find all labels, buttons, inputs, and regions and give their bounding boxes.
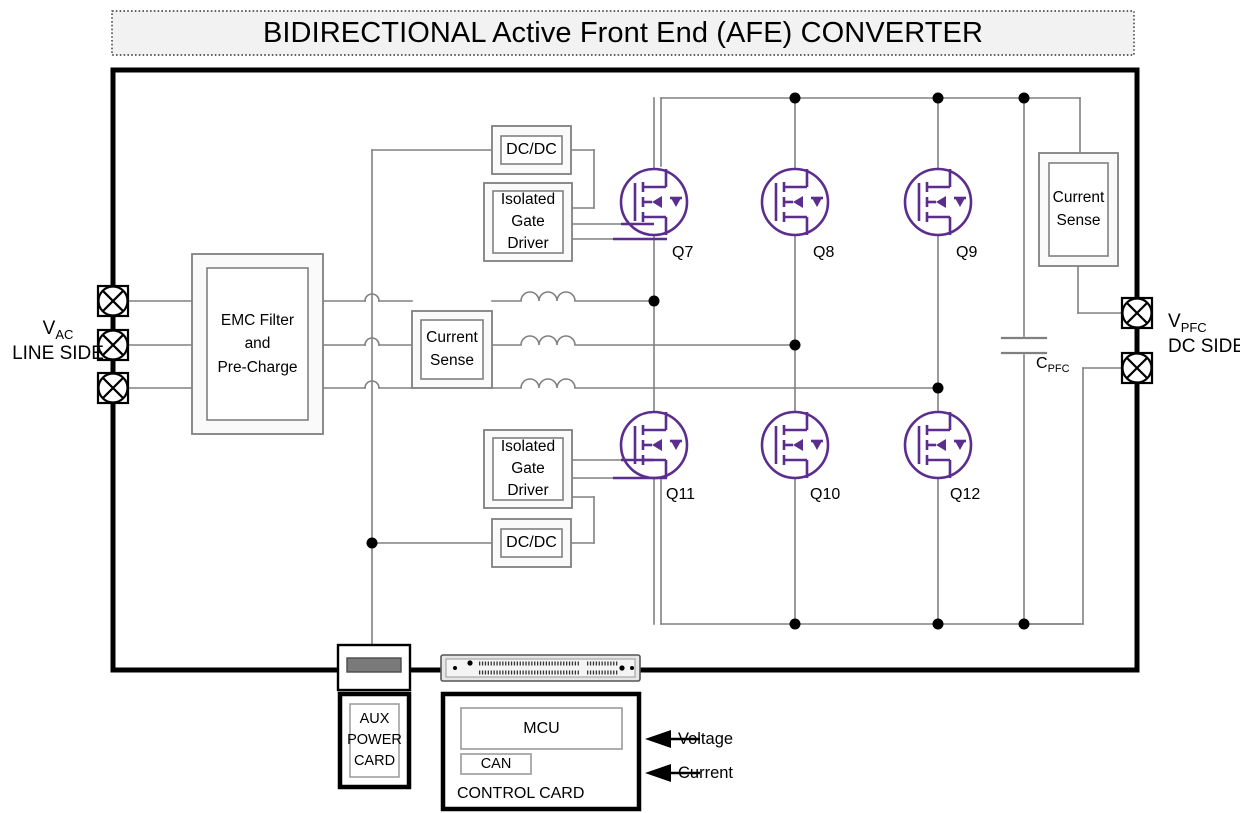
gate-driver-bottom-label: Isolated Gate Driver	[484, 430, 572, 508]
dc-port-negative[interactable]	[1122, 353, 1152, 383]
current-sense-dc-label: Current Sense	[1039, 153, 1118, 266]
page-title-text: BIDIRECTIONAL Active Front End (AFE) CON…	[263, 17, 983, 50]
aux-line-3: CARD	[354, 751, 395, 772]
mosfet-label-q7: Q7	[672, 244, 693, 262]
aux-line-1: AUX	[360, 709, 390, 730]
can-label: CAN	[461, 754, 531, 774]
gd-bot-line-1: Isolated	[501, 436, 555, 458]
capacitor-label: CPFC	[1036, 355, 1070, 375]
cpfc-label: C	[1036, 355, 1048, 372]
mosfet-q8[interactable]	[762, 169, 828, 235]
vac-label: V	[43, 318, 56, 339]
ac-port-l3[interactable]	[98, 373, 128, 403]
dc-port-positive[interactable]	[1122, 298, 1152, 328]
vac-side-label: LINE SIDE	[8, 343, 108, 365]
gd-bot-line-3: Driver	[507, 480, 548, 502]
mosfet-label-q11: Q11	[666, 486, 695, 504]
aux-line-2: POWER	[347, 730, 402, 751]
cs-dc-line-1: Current	[1053, 187, 1105, 209]
boost-inductor-l1	[521, 292, 575, 301]
vpfc-subscript: PFC	[1181, 320, 1207, 335]
mosfet-q9[interactable]	[905, 169, 971, 235]
cs-ac-line-1: Current	[426, 327, 478, 349]
vpfc-label: V	[1168, 311, 1181, 332]
mosfet-label-q8: Q8	[813, 244, 834, 262]
emc-line-2: and	[245, 332, 271, 355]
dcdc-top-label: DC/DC	[492, 126, 571, 174]
ac-port-label: VAC LINE SIDE	[8, 318, 108, 365]
emc-line-3: Pre-Charge	[217, 356, 297, 379]
current-sense-ac-label: Current Sense	[412, 311, 492, 388]
boost-inductor-l3	[521, 379, 575, 388]
gd-top-line-3: Driver	[507, 233, 548, 255]
mcu-label: MCU	[461, 708, 622, 749]
mosfet-q11[interactable]	[621, 412, 687, 478]
cpfc-subscript: PFC	[1048, 363, 1070, 375]
cs-dc-line-2: Sense	[1057, 210, 1101, 232]
aux-power-card-label: AUX POWER CARD	[340, 694, 409, 787]
gd-bot-line-2: Gate	[511, 458, 545, 480]
feedback-label-current: Current	[678, 764, 733, 783]
ac-port-l1[interactable]	[98, 286, 128, 316]
vac-subscript: AC	[55, 327, 73, 342]
diagram-canvas: BIDIRECTIONAL Active Front End (AFE) CON…	[0, 0, 1240, 813]
mosfet-label-q9: Q9	[956, 244, 977, 262]
boost-inductor-l2	[521, 336, 575, 345]
mosfet-q12[interactable]	[905, 412, 971, 478]
mosfet-label-q12: Q12	[950, 486, 980, 504]
dcdc-bottom-label: DC/DC	[492, 519, 571, 567]
aux-power-connector[interactable]	[338, 645, 410, 690]
mosfet-q10[interactable]	[762, 412, 828, 478]
control-card-label: CONTROL CARD	[457, 785, 584, 803]
gate-driver-top-label: Isolated Gate Driver	[484, 183, 572, 261]
emc-line-1: EMC Filter	[221, 309, 294, 332]
cs-ac-line-2: Sense	[430, 350, 474, 372]
vpfc-side-label: DC SIDE	[1168, 336, 1240, 358]
emc-filter-label: EMC Filter and Pre-Charge	[192, 254, 323, 434]
control-card-edge-connector[interactable]	[441, 655, 640, 681]
gd-top-line-2: Gate	[511, 211, 545, 233]
gd-top-line-1: Isolated	[501, 189, 555, 211]
mosfet-label-q10: Q10	[810, 486, 840, 504]
dc-port-label: VPFC DC SIDE	[1168, 311, 1240, 358]
feedback-label-voltage: Voltage	[678, 730, 733, 749]
page-title: BIDIRECTIONAL Active Front End (AFE) CON…	[112, 11, 1134, 55]
afe-converter-diagram	[0, 0, 1240, 813]
